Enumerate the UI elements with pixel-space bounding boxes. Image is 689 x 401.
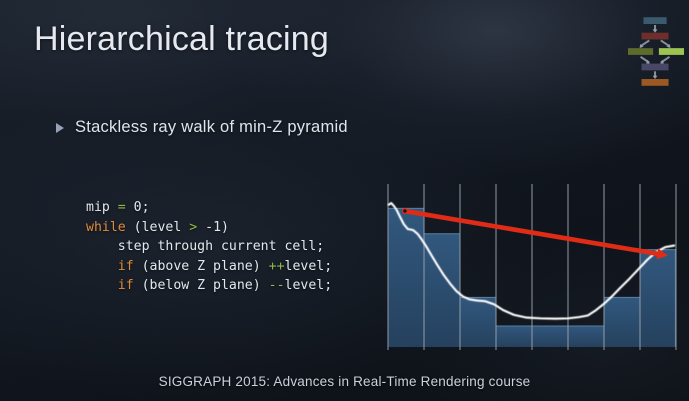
logo-node-3 <box>628 48 653 55</box>
code-line: while (level > -1) <box>86 218 332 238</box>
logo-node-5 <box>642 64 669 71</box>
bullet-item: Stackless ray walk of min-Z pyramid <box>56 118 348 137</box>
logo-node-1 <box>643 17 666 24</box>
code-token: = <box>118 200 126 215</box>
chart-gridline <box>459 184 461 350</box>
chart-bar <box>460 297 496 347</box>
code-token: (below Z plane) <box>134 278 269 293</box>
siggraph-advances-logo <box>628 12 684 92</box>
chart-gridline <box>603 184 605 350</box>
code-line: mip = 0; <box>86 198 332 218</box>
code-token: while <box>86 220 126 235</box>
chart-gridline <box>567 184 569 350</box>
chart-bar <box>640 249 676 347</box>
chart-bar-top-edge <box>424 233 460 234</box>
chart-bar <box>604 297 640 347</box>
bullet-item-label: Stackless ray walk of min-Z pyramid <box>75 118 348 137</box>
chart-bar <box>496 326 532 347</box>
chart-bar-top-edge <box>568 326 604 327</box>
code-token: > <box>189 220 197 235</box>
code-token: -1) <box>197 220 229 235</box>
code-token: -- <box>269 278 285 293</box>
chart-gridline <box>531 184 533 350</box>
chart-bar <box>388 208 424 347</box>
slide-canvas: Hierarchical tracing <box>0 0 689 401</box>
code-block: mip = 0;while (level > -1) step through … <box>86 198 332 296</box>
hierarchical-tracing-chart <box>380 182 680 350</box>
code-token: 0; <box>126 200 150 215</box>
code-line: if (below Z plane) --level; <box>86 276 332 296</box>
code-token: mip <box>86 200 118 215</box>
code-token: if <box>118 259 134 274</box>
ray-origin-dot <box>403 209 408 214</box>
chart-bar <box>532 326 568 347</box>
logo-node-2 <box>642 33 669 40</box>
code-line: if (above Z plane) ++level; <box>86 257 332 277</box>
chart-gridline <box>423 184 425 350</box>
code-token: step through current cell; <box>118 239 324 254</box>
code-token: ++ <box>269 259 285 274</box>
logo-node-4 <box>659 48 684 55</box>
code-token: level; <box>285 259 333 274</box>
chart-gridline <box>495 184 497 350</box>
slide-footer: SIGGRAPH 2015: Advances in Real-Time Ren… <box>0 374 689 389</box>
code-token: level; <box>285 278 333 293</box>
chart-bar <box>568 326 604 347</box>
code-token: (level <box>126 220 190 235</box>
code-token: (above Z plane) <box>134 259 269 274</box>
page-title: Hierarchical tracing <box>34 20 329 59</box>
logo-node-6 <box>642 79 669 86</box>
triangle-right-icon <box>56 123 64 133</box>
code-token: if <box>118 278 134 293</box>
chart-bar-top-edge <box>496 326 532 327</box>
code-line: step through current cell; <box>86 237 332 257</box>
chart-gridline <box>387 184 389 350</box>
chart-gridline <box>675 184 677 350</box>
chart-bar-top-edge <box>532 326 568 327</box>
